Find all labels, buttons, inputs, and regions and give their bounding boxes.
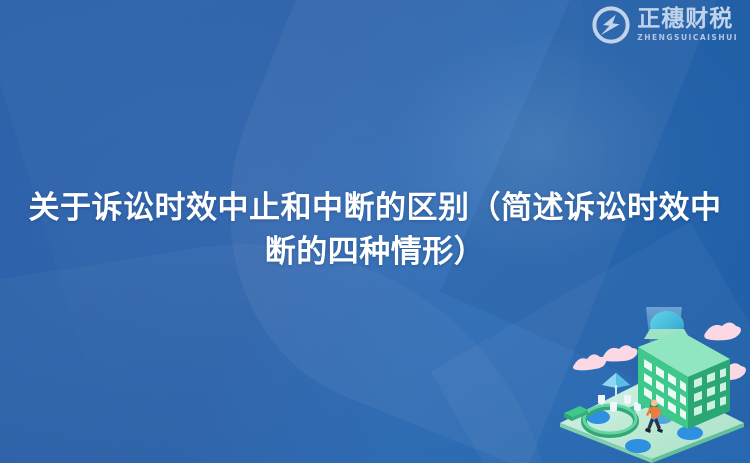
cover-title-block: 关于诉讼时效中止和中断的区别（简述诉讼时效中断的四种情形） [0,186,750,274]
article-cover-banner: 正穗财税 ZHENGSUICAISHUI 关于诉讼时效中止和中断的区别（简述诉讼… [0,0,750,463]
brand-logo[interactable]: 正穗财税 ZHENGSUICAISHUI [592,6,738,44]
brand-logo-text: 正穗财税 ZHENGSUICAISHUI [637,8,738,42]
brand-name-cn: 正穗财税 [637,8,738,31]
isometric-illustration [554,307,750,463]
lightning-circle-icon [592,6,630,44]
brand-name-en: ZHENGSUICAISHUI [637,34,738,42]
page-title: 关于诉讼时效中止和中断的区别（简述诉讼时效中断的四种情形） [28,186,722,274]
